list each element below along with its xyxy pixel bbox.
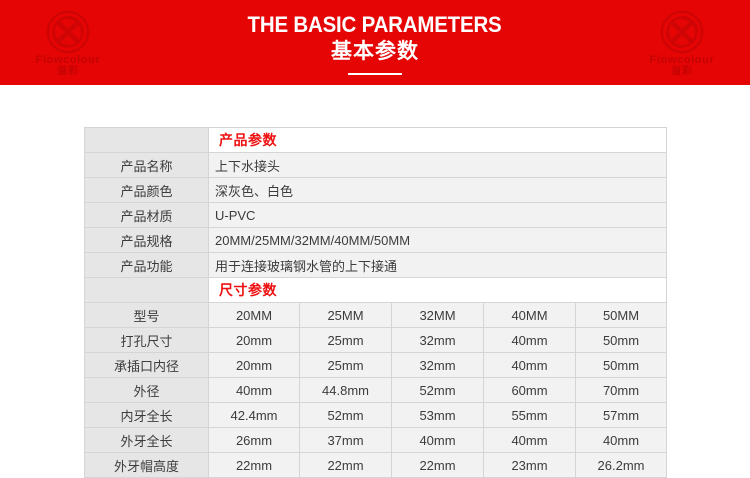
row-cell: 22mm	[300, 453, 392, 478]
row-cell: 42.4mm	[209, 403, 300, 428]
banner-title-block: THE BASIC PARAMETERS 基本参数	[0, 0, 750, 85]
row-label: 产品材质	[85, 203, 209, 228]
row-label: 产品名称	[85, 153, 209, 178]
page-banner: Flowcolour 溢彩 THE BASIC PARAMETERS 基本参数 …	[0, 0, 750, 85]
table-row: 外牙全长 26mm 37mm 40mm 40mm 40mm	[85, 428, 667, 453]
row-cell: 32mm	[392, 328, 484, 353]
row-cell: 52mm	[300, 403, 392, 428]
banner-title-en: THE BASIC PARAMETERS	[248, 12, 502, 37]
table-row: 外径 40mm 44.8mm 52mm 60mm 70mm	[85, 378, 667, 403]
row-cell: 40mm	[576, 428, 667, 453]
specification-table: 产品参数 产品名称 上下水接头 产品颜色 深灰色、白色 产品材质 U-PVC 产…	[84, 127, 667, 478]
row-label: 承插口内径	[85, 353, 209, 378]
row-value: 上下水接头	[209, 153, 667, 178]
row-value: 用于连接玻璃钢水管的上下接通	[209, 253, 667, 278]
specification-table-body: 产品参数 产品名称 上下水接头 产品颜色 深灰色、白色 产品材质 U-PVC 产…	[85, 128, 667, 478]
row-label: 内牙全长	[85, 403, 209, 428]
row-cell: 40mm	[484, 328, 576, 353]
row-cell: 20mm	[209, 328, 300, 353]
row-cell: 50MM	[576, 303, 667, 328]
row-cell: 40mm	[392, 428, 484, 453]
table-row: 承插口内径 20mm 25mm 32mm 40mm 50mm	[85, 353, 667, 378]
row-cell: 57mm	[576, 403, 667, 428]
section-title-size: 尺寸参数	[209, 278, 667, 303]
row-label: 型号	[85, 303, 209, 328]
row-cell: 53mm	[392, 403, 484, 428]
table-row: 内牙全长 42.4mm 52mm 53mm 55mm 57mm	[85, 403, 667, 428]
table-row: 型号 20MM 25MM 32MM 40MM 50MM	[85, 303, 667, 328]
row-cell: 55mm	[484, 403, 576, 428]
row-label: 产品颜色	[85, 178, 209, 203]
section-header-spacer	[85, 278, 209, 303]
row-cell: 40MM	[484, 303, 576, 328]
table-row: 产品规格 20MM/25MM/32MM/40MM/50MM	[85, 228, 667, 253]
row-label: 产品功能	[85, 253, 209, 278]
row-cell: 25MM	[300, 303, 392, 328]
row-cell: 40mm	[209, 378, 300, 403]
section-header-spacer	[85, 128, 209, 153]
row-label: 打孔尺寸	[85, 328, 209, 353]
row-cell: 44.8mm	[300, 378, 392, 403]
section-header-row-size: 尺寸参数	[85, 278, 667, 303]
row-cell: 22mm	[209, 453, 300, 478]
row-cell: 26mm	[209, 428, 300, 453]
row-value: 20MM/25MM/32MM/40MM/50MM	[209, 228, 667, 253]
row-cell: 20MM	[209, 303, 300, 328]
row-cell: 40mm	[484, 428, 576, 453]
row-label: 外牙帽高度	[85, 453, 209, 478]
row-label: 外径	[85, 378, 209, 403]
banner-underline-rule	[348, 73, 402, 75]
row-value: 深灰色、白色	[209, 178, 667, 203]
row-cell: 22mm	[392, 453, 484, 478]
banner-title-cn: 基本参数	[331, 39, 419, 65]
section-header-row-product: 产品参数	[85, 128, 667, 153]
table-row: 产品功能 用于连接玻璃钢水管的上下接通	[85, 253, 667, 278]
row-cell: 50mm	[576, 328, 667, 353]
row-cell: 23mm	[484, 453, 576, 478]
row-cell: 70mm	[576, 378, 667, 403]
row-cell: 52mm	[392, 378, 484, 403]
row-cell: 32MM	[392, 303, 484, 328]
row-cell: 50mm	[576, 353, 667, 378]
row-cell: 60mm	[484, 378, 576, 403]
section-title-product: 产品参数	[209, 128, 667, 153]
table-row: 产品材质 U-PVC	[85, 203, 667, 228]
table-row: 外牙帽高度 22mm 22mm 22mm 23mm 26.2mm	[85, 453, 667, 478]
row-cell: 32mm	[392, 353, 484, 378]
row-cell: 26.2mm	[576, 453, 667, 478]
row-cell: 40mm	[484, 353, 576, 378]
row-cell: 25mm	[300, 328, 392, 353]
row-value: U-PVC	[209, 203, 667, 228]
row-cell: 25mm	[300, 353, 392, 378]
row-label: 外牙全长	[85, 428, 209, 453]
table-row: 打孔尺寸 20mm 25mm 32mm 40mm 50mm	[85, 328, 667, 353]
table-row: 产品名称 上下水接头	[85, 153, 667, 178]
table-row: 产品颜色 深灰色、白色	[85, 178, 667, 203]
row-label: 产品规格	[85, 228, 209, 253]
row-cell: 20mm	[209, 353, 300, 378]
row-cell: 37mm	[300, 428, 392, 453]
specification-table-wrapper: 产品参数 产品名称 上下水接头 产品颜色 深灰色、白色 产品材质 U-PVC 产…	[84, 127, 666, 478]
